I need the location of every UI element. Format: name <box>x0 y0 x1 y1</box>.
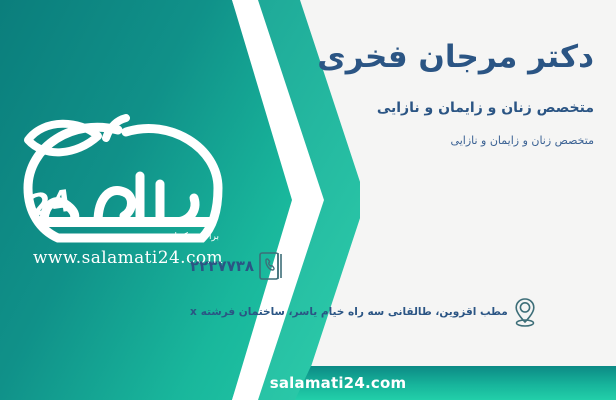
phone-book-icon <box>254 248 288 284</box>
doctor-name: دکتر مرجان فخری <box>214 38 594 77</box>
contact-row-phone[interactable]: ۲۲۳۷۷۳۸ <box>178 248 598 284</box>
address-text: مطب اقزوین، طالقانی سه راه خیام یاسر، سا… <box>178 306 508 318</box>
apple-leaf-logo-icon: 24 <box>14 112 229 247</box>
contact-row-address[interactable]: مطب اقزوین، طالقانی سه راه خیام یاسر، سا… <box>178 294 598 330</box>
phone-number: ۲۲۳۷۷۳۸ <box>178 257 254 275</box>
footer-website[interactable]: salamati24.com <box>0 366 616 400</box>
business-card: 24 براحتی یک لبخند www.salamati24.com دک… <box>0 0 616 400</box>
location-pin-icon <box>508 294 542 330</box>
specialty-sub: متخصص زنان و زایمان و نازایی <box>214 134 594 147</box>
specialty-main: متخصص زنان و زایمان و نازایی <box>214 100 594 116</box>
logo-tagline: براحتی یک لبخند <box>158 232 219 242</box>
svg-text:24: 24 <box>28 183 74 223</box>
contact-block: ۲۲۳۷۷۳۸ مطب اقزوین، طالقانی سه راه خیام … <box>178 248 598 340</box>
